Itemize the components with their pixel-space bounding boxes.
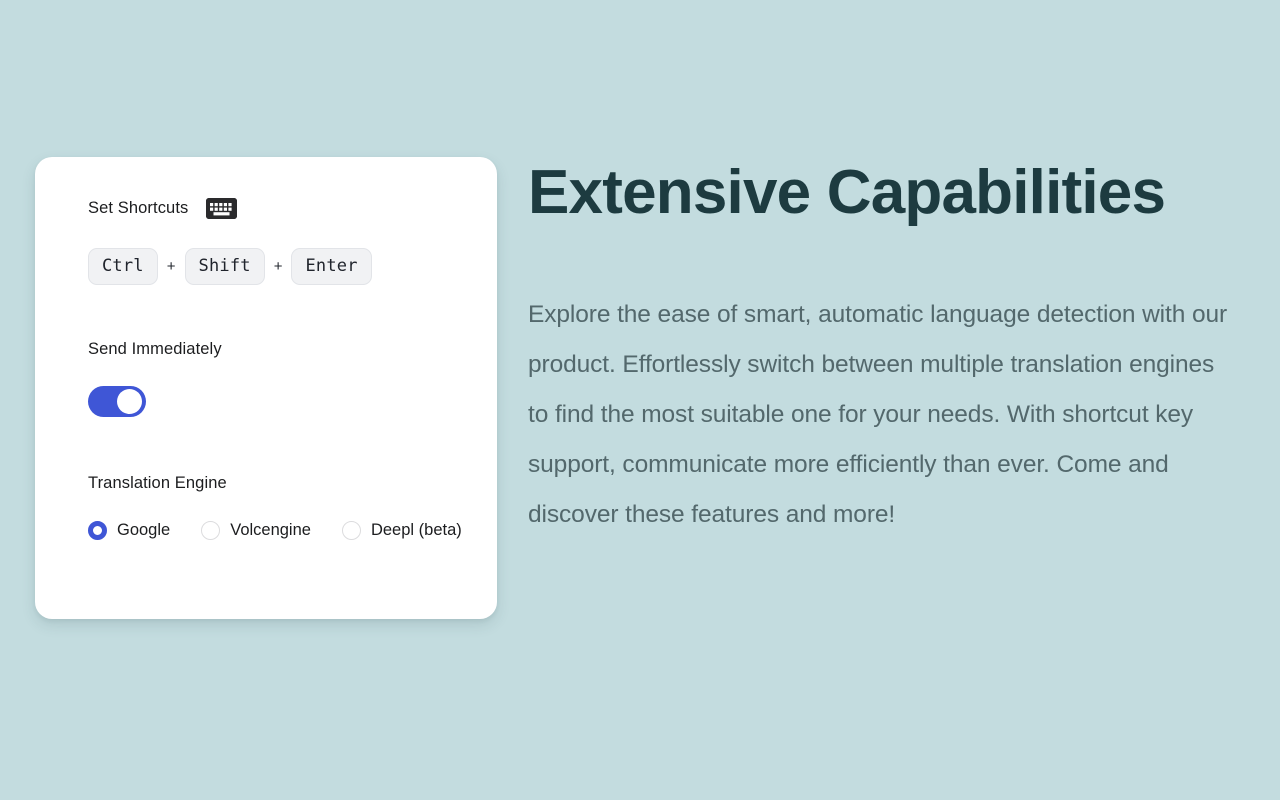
key-separator-2: + [274,258,283,275]
send-immediately-toggle[interactable] [88,386,146,417]
keyboard-icon [206,198,237,219]
radio-label-deepl: Deepl (beta) [371,521,462,540]
settings-card: Set Shortcuts Ctr [35,157,497,619]
toggle-knob [117,389,142,414]
translation-engine-options: Google Volcengine Deepl (beta) [88,521,497,540]
key-chip-shift[interactable]: Shift [185,248,265,285]
send-immediately-label: Send Immediately [88,341,497,358]
page-title: Extensive Capabilities [528,160,1268,227]
shortcut-keys: Ctrl + Shift + Enter [88,248,497,285]
marketing-content: Extensive Capabilities Explore the ease … [528,160,1268,540]
radio-option-google[interactable]: Google [88,521,170,540]
radio-icon-deepl[interactable] [342,521,361,540]
description-paragraph: Explore the ease of smart, automatic lan… [528,290,1240,540]
translation-engine-label: Translation Engine [88,475,497,492]
radio-option-volcengine[interactable]: Volcengine [201,521,311,540]
set-shortcuts-label: Set Shortcuts [88,200,188,217]
translation-engine-section: Translation Engine Google Volcengine Dee… [88,475,497,541]
radio-label-google: Google [117,521,170,540]
key-chip-enter[interactable]: Enter [291,248,371,285]
key-chip-ctrl[interactable]: Ctrl [88,248,158,285]
radio-icon-volcengine[interactable] [201,521,220,540]
send-immediately-section: Send Immediately [88,341,497,417]
set-shortcuts-header: Set Shortcuts [88,197,497,219]
radio-option-deepl[interactable]: Deepl (beta) [342,521,462,540]
radio-icon-google[interactable] [88,521,107,540]
radio-label-volcengine: Volcengine [230,521,311,540]
key-separator-1: + [167,258,176,275]
